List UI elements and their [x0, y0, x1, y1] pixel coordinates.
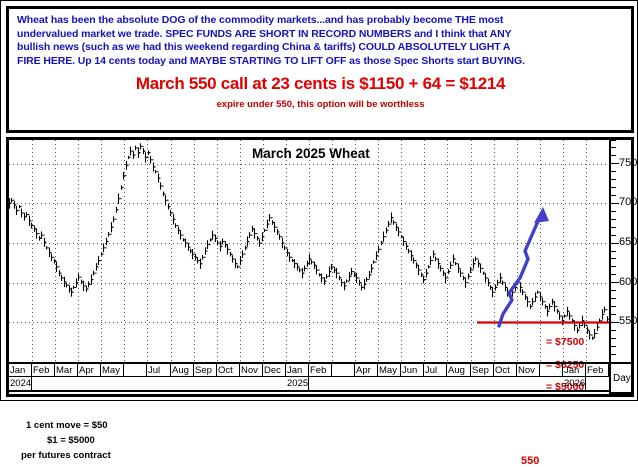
y-axis-tick: [611, 179, 616, 180]
x-axis-month-cell: Oct: [494, 364, 517, 376]
x-axis-year-cell: [332, 377, 355, 390]
x-axis-month-cell: Oct: [217, 364, 240, 376]
x-axis-month-cell: Mar: [55, 364, 78, 376]
contract-note-line-2: $1 = $5000: [47, 435, 95, 446]
x-axis-unit-label: Day: [609, 362, 631, 394]
x-axis-year-cell: [586, 377, 609, 390]
x-axis-month-cell: Jun: [401, 364, 424, 376]
y-axis-tick: [611, 195, 616, 196]
x-axis-month-cell: Jul: [147, 364, 171, 376]
y-axis-label: 550: [619, 315, 638, 327]
y-axis-tick: [611, 322, 619, 323]
x-axis-year-cell: [55, 377, 78, 390]
x-axis-month-cell: Jul: [424, 364, 447, 376]
x-axis-year-cell: [32, 377, 55, 390]
x-axis-year-cell: 2024: [9, 377, 32, 390]
y-axis-tick: [611, 227, 616, 228]
y-axis-tick: [611, 282, 619, 283]
commentary-text-block: Wheat has been the absolute DOG of the c…: [9, 9, 631, 110]
x-axis-month-cell: Aug: [447, 364, 471, 376]
x-axis-year-cell: [378, 377, 401, 390]
x-axis-month-cell: [332, 364, 355, 376]
y-axis-tick: [611, 235, 616, 236]
x-axis-year-cell: [194, 377, 217, 390]
commentary-panel: Wheat has been the absolute DOG of the c…: [6, 6, 634, 133]
x-axis-year-cell: [424, 377, 447, 390]
x-axis-year-cell: [540, 377, 563, 390]
x-axis-year-cell: 2026: [563, 377, 586, 390]
commentary-line-4: FIRE HERE. Up 14 cents today and MAYBE S…: [17, 55, 624, 69]
x-axis-month-cell: May: [378, 364, 401, 376]
x-axis-year-cell: [124, 377, 147, 390]
x-axis: JanFebMarAprMayJulAugSepOctNovDecJanFebA…: [9, 362, 609, 394]
chart-title: March 2025 Wheat: [252, 146, 370, 161]
subheadline-text: expire under 550, this option will be wo…: [17, 99, 624, 110]
x-axis-month-cell: [540, 364, 563, 376]
x-axis-year-cell: 2025: [286, 377, 309, 390]
screenshot-root: Wheat has been the absolute DOG of the c…: [0, 0, 638, 401]
x-axis-year-row: 202420252026: [9, 377, 609, 392]
headline-text: March 550 call at 23 cents is $1150 + 64…: [17, 74, 624, 94]
y-axis: 550600650700750: [609, 140, 631, 362]
x-axis-month-cell: Sep: [471, 364, 494, 376]
x-axis-year-cell: [494, 377, 517, 390]
chart-panel: March 2025 Wheat 1 cent move = $50 $1 = …: [6, 137, 634, 397]
x-axis-year-cell: [309, 377, 332, 390]
y-axis-tick: [611, 306, 616, 307]
y-axis-tick: [611, 258, 616, 259]
x-axis-month-cell: Aug: [171, 364, 194, 376]
x-axis-year-cell: [447, 377, 471, 390]
y-axis-tick: [611, 290, 616, 291]
y-axis-tick: [611, 346, 616, 347]
x-axis-month-cell: Jan: [563, 364, 586, 376]
x-axis-month-cell: Feb: [586, 364, 609, 376]
x-axis-month-cell: Jan: [286, 364, 309, 376]
x-axis-year-cell: [78, 377, 101, 390]
y-axis-tick: [611, 298, 616, 299]
y-axis-tick: [611, 171, 616, 172]
y-axis-label: 700: [619, 196, 638, 208]
y-axis-tick: [611, 219, 616, 220]
contract-note-line-1: 1 cent move = $50: [26, 420, 108, 431]
y-axis-tick: [611, 338, 616, 339]
y-axis-tick: [611, 211, 616, 212]
price-chart-svg: [9, 140, 609, 362]
y-axis-tick: [611, 140, 616, 141]
y-axis-tick: [611, 163, 619, 164]
x-axis-year-cell: [217, 377, 240, 390]
x-axis-month-cell: Apr: [355, 364, 378, 376]
commentary-line-1: Wheat has been the absolute DOG of the c…: [17, 14, 624, 28]
y-axis-tick: [611, 266, 616, 267]
x-axis-year-cell: [171, 377, 194, 390]
x-axis-month-cell: Jan: [9, 364, 32, 376]
y-axis-tick: [611, 243, 619, 244]
x-axis-year-cell: [101, 377, 124, 390]
contract-note-line-3: per futures contract: [21, 450, 111, 461]
x-axis-month-cell: Apr: [78, 364, 101, 376]
x-axis-year-cell: [471, 377, 494, 390]
y-axis-tick: [611, 147, 616, 148]
x-axis-year-cell: [263, 377, 286, 390]
commentary-line-2: undervalued market we trade. SPEC FUNDS …: [17, 28, 624, 42]
x-axis-month-cell: May: [101, 364, 124, 376]
y-axis-tick: [611, 274, 616, 275]
x-axis-year-cell: [517, 377, 540, 390]
x-axis-year-cell: [240, 377, 263, 390]
projection-label-7500: = $7500: [546, 336, 584, 348]
y-axis-tick: [611, 155, 616, 156]
x-axis-month-cell: Dec: [263, 364, 286, 376]
x-axis-year-cell: [147, 377, 171, 390]
x-axis-month-cell: [124, 364, 147, 376]
y-axis-tick: [611, 330, 616, 331]
y-axis-label: 750: [619, 157, 638, 169]
y-axis-tick: [611, 354, 616, 355]
commentary-line-3: bullish news (such as we had this weeken…: [17, 41, 624, 55]
plot-area: [9, 140, 609, 362]
x-axis-month-cell: Nov: [517, 364, 540, 376]
x-axis-month-cell: Nov: [240, 364, 263, 376]
y-axis-tick: [611, 203, 619, 204]
y-axis-tick: [611, 314, 616, 315]
x-axis-month-cell: Feb: [309, 364, 332, 376]
x-axis-month-row: JanFebMarAprMayJulAugSepOctNovDecJanFebA…: [9, 362, 609, 377]
y-axis-tick: [611, 251, 616, 252]
x-axis-year-cell: [401, 377, 424, 390]
y-axis-tick: [611, 187, 616, 188]
x-axis-year-cell: [355, 377, 378, 390]
strike-price-label: 550: [521, 455, 539, 467]
x-axis-month-cell: Feb: [32, 364, 55, 376]
y-axis-label: 600: [619, 276, 638, 288]
y-axis-label: 650: [619, 236, 638, 248]
x-axis-month-cell: Sep: [194, 364, 217, 376]
